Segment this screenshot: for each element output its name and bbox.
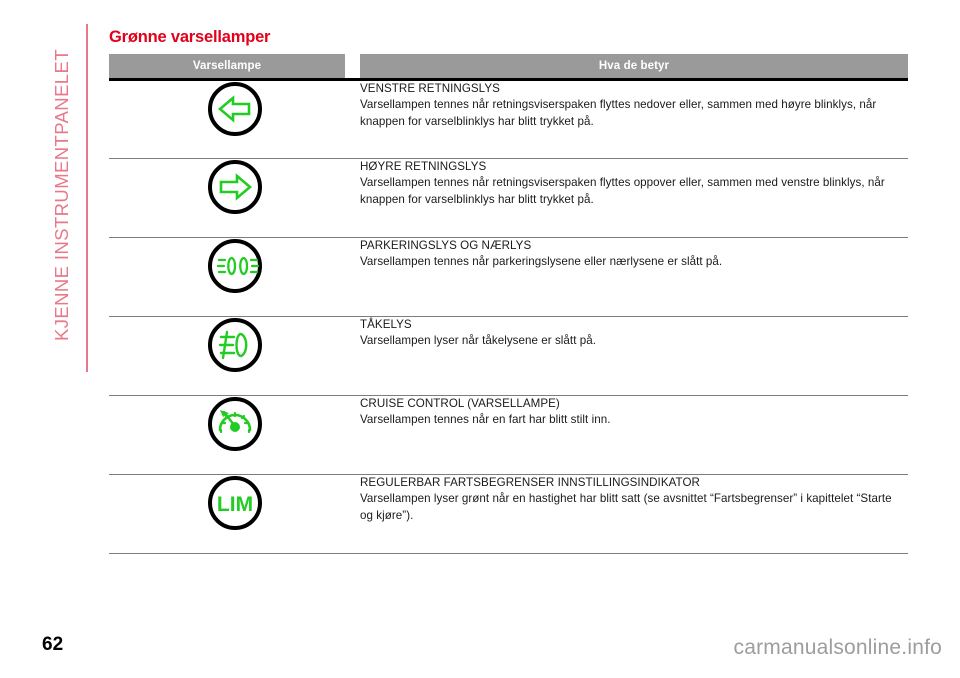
cruise-control-icon: [207, 396, 263, 452]
row-title: PARKERINGSLYS OG NÆRLYS: [360, 238, 904, 254]
page-number: 62: [42, 634, 63, 656]
fog-lights-icon: [207, 317, 263, 373]
row-description: Varsellampen lyser når tåkelysene er slå…: [360, 333, 900, 349]
icon-cell: [109, 159, 360, 215]
column-header-warning-light: Varsellampe: [109, 54, 345, 78]
chapter-side-tab: KJENNE INSTRUMENTPANELET: [0, 0, 100, 400]
left-turn-signal-icon: [207, 81, 263, 137]
parking-and-low-beam-lights-icon: [207, 238, 263, 294]
table-row: PARKERINGSLYS OG NÆRLYS Varsellampen ten…: [109, 238, 908, 317]
text-cell: CRUISE CONTROL (VARSELLAMPE) Varsellampe…: [360, 396, 908, 429]
table-row: CRUISE CONTROL (VARSELLAMPE) Varsellampe…: [109, 396, 908, 475]
chapter-label: KJENNE INSTRUMENTPANELET: [51, 0, 73, 341]
row-description: Varsellampen tennes når parkeringslysene…: [360, 254, 900, 270]
table-row: HØYRE RETNINGSLYS Varsellampen tennes nå…: [109, 159, 908, 238]
manual-page: KJENNE INSTRUMENTPANELET Grønne varsella…: [0, 0, 960, 678]
text-cell: PARKERINGSLYS OG NÆRLYS Varsellampen ten…: [360, 238, 908, 271]
header-gap: [345, 54, 360, 78]
row-description: Varsellampen tennes når en fart har blit…: [360, 412, 900, 428]
icon-cell: LIM: [109, 475, 360, 531]
table-row: TÅKELYS Varsellampen lyser når tåkelysen…: [109, 317, 908, 396]
row-description: Varsellampen lyser grønt når en hastighe…: [360, 491, 900, 524]
row-title: CRUISE CONTROL (VARSELLAMPE): [360, 396, 904, 412]
text-cell: REGULERBAR FARTSBEGRENSER INNSTILLINGSIN…: [360, 475, 908, 524]
text-cell: VENSTRE RETNINGSLYS Varsellampen tennes …: [360, 81, 908, 130]
chapter-rule: [86, 24, 88, 372]
page-title: Grønne varsellamper: [109, 28, 270, 47]
text-cell: HØYRE RETNINGSLYS Varsellampen tennes nå…: [360, 159, 908, 208]
row-description: Varsellampen tennes når retningsviserspa…: [360, 175, 900, 208]
table-header-row: Varsellampe Hva de betyr: [109, 54, 908, 78]
icon-cell: [109, 81, 360, 137]
row-title: TÅKELYS: [360, 317, 904, 333]
row-description: Varsellampen tennes når retningsviserspa…: [360, 97, 900, 130]
icon-cell: [109, 238, 360, 294]
right-turn-signal-icon: [207, 159, 263, 215]
warning-lights-table: Varsellampe Hva de betyr VENSTRE RETNING…: [109, 54, 908, 554]
row-title: HØYRE RETNINGSLYS: [360, 159, 904, 175]
icon-cell: [109, 317, 360, 373]
table-row: LIM REGULERBAR FARTSBEGRENSER INNSTILLIN…: [109, 475, 908, 554]
row-title: VENSTRE RETNINGSLYS: [360, 81, 904, 97]
svg-text:LIM: LIM: [216, 493, 252, 516]
speed-limiter-lim-icon: LIM: [207, 475, 263, 531]
site-watermark: carmanualsonline.info: [734, 636, 943, 660]
row-title: REGULERBAR FARTSBEGRENSER INNSTILLINGSIN…: [360, 475, 904, 491]
column-header-meaning: Hva de betyr: [360, 54, 908, 78]
icon-cell: [109, 396, 360, 452]
text-cell: TÅKELYS Varsellampen lyser når tåkelysen…: [360, 317, 908, 350]
table-row: VENSTRE RETNINGSLYS Varsellampen tennes …: [109, 81, 908, 159]
